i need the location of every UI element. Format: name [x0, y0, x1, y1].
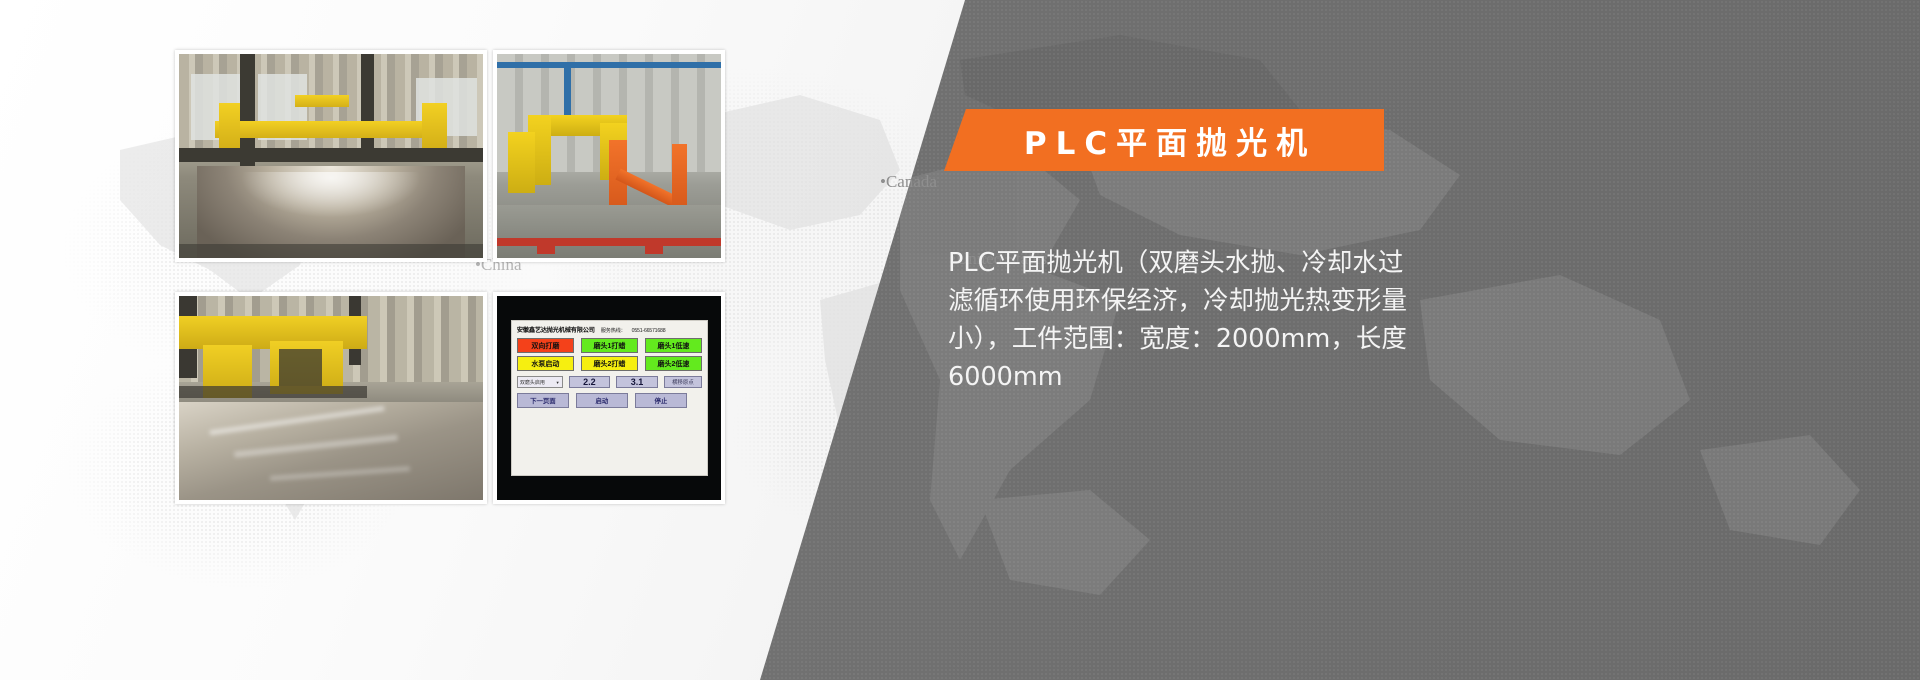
hmi-traverse-origin-label: 横移原点	[664, 376, 702, 388]
hmi-hotline-number: 0551-66571688	[632, 328, 666, 334]
hmi-button-row-1: 双向打磨 磨头1打蜡 磨头1低速	[517, 338, 702, 353]
hmi-start-button[interactable]: 启动	[576, 393, 628, 408]
hmi-button-row-2: 水泵启动 磨头2打蜡 磨头2低速	[517, 356, 702, 371]
hmi-hotline-label: 服务热线：	[601, 327, 626, 334]
hmi-company-name: 安徽鑫艺达抛光机械有限公司	[517, 325, 595, 334]
page-title: PLC平面抛光机	[1012, 118, 1316, 163]
hmi-selector-value: 双磨头启用	[520, 379, 545, 386]
title-banner: PLC平面抛光机	[944, 109, 1384, 171]
map-label-canada: •Canada	[880, 172, 937, 192]
product-description: PLC平面抛光机（双磨头水抛、冷却水过滤循环使用环保经济，冷却抛光热变形量小），…	[948, 244, 1426, 396]
hmi-stop-button[interactable]: 停止	[635, 393, 687, 408]
hmi-button-bidirectional-grinding[interactable]: 双向打磨	[517, 338, 574, 353]
hmi-dual-head-selector[interactable]: 双磨头启用 ▼	[517, 376, 563, 388]
chevron-down-icon: ▼	[556, 380, 560, 385]
hmi-button-water-pump-start[interactable]: 水泵启动	[517, 356, 574, 371]
hmi-value-field-2[interactable]: 3.1	[616, 376, 658, 388]
gantry-polishing-machine-photo	[175, 50, 487, 262]
hmi-value-field-1[interactable]: 2.2	[569, 376, 611, 388]
polishing-head-on-steel-plate-photo	[175, 292, 487, 504]
product-banner: •China •Canada •United States	[0, 0, 1920, 680]
hmi-button-head1-low-speed[interactable]: 磨头1低速	[645, 338, 702, 353]
hmi-button-head2-low-speed[interactable]: 磨头2低速	[645, 356, 702, 371]
hmi-next-page-button[interactable]: 下一页面	[517, 393, 569, 408]
hmi-screen: 安徽鑫艺达抛光机械有限公司 服务热线： 0551-66571688 双向打磨 磨…	[511, 320, 708, 475]
hmi-button-head1-wax[interactable]: 磨头1打蜡	[581, 338, 638, 353]
hmi-button-head2-wax[interactable]: 磨头2打蜡	[581, 356, 638, 371]
orange-yellow-machine-frame-photo	[493, 50, 725, 262]
plc-hmi-touch-panel-photo: 安徽鑫艺达抛光机械有限公司 服务热线： 0551-66571688 双向打磨 磨…	[493, 292, 725, 504]
hmi-header: 安徽鑫艺达抛光机械有限公司 服务热线： 0551-66571688	[517, 325, 702, 334]
